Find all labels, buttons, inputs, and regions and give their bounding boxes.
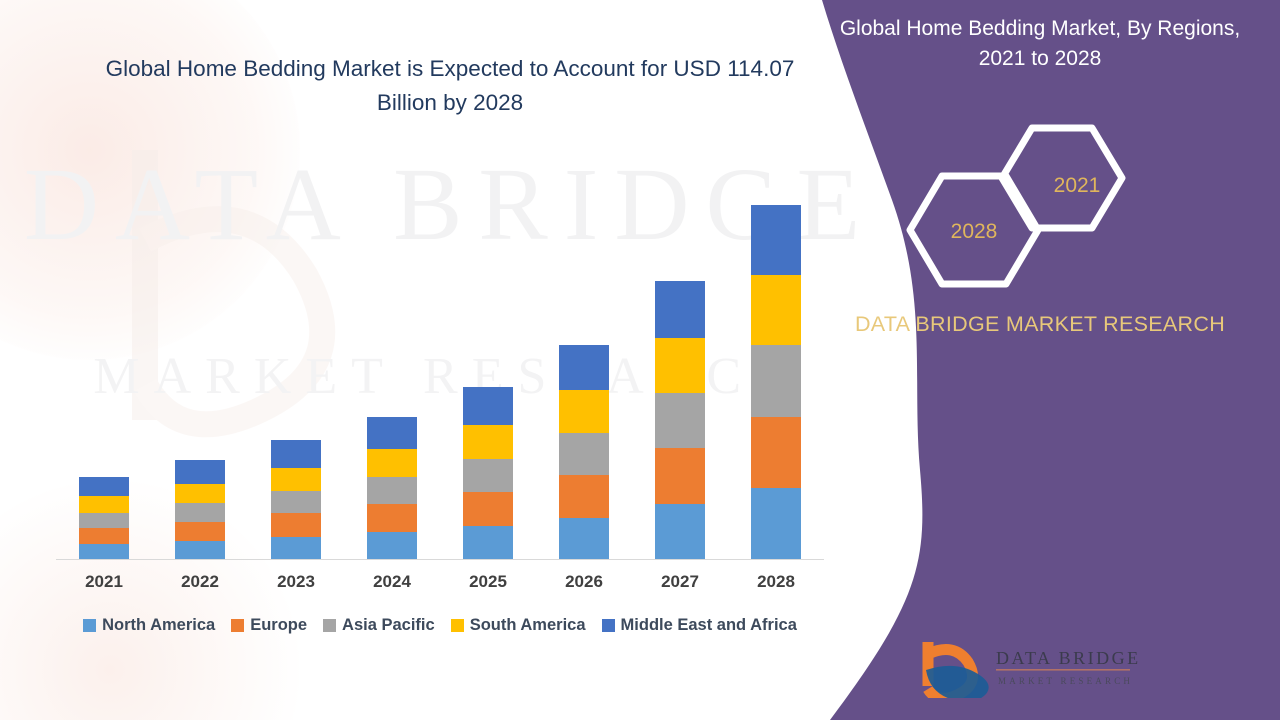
bar-segment[interactable]	[655, 338, 705, 393]
chart-pane: DATA BRIDGE MARKET RESEARCH Global Home …	[0, 0, 900, 720]
stacked-bar[interactable]	[559, 345, 609, 559]
bar-column-2022[interactable]	[152, 460, 248, 559]
bar-segment[interactable]	[463, 492, 513, 526]
bar-segment[interactable]	[751, 205, 801, 274]
bar-segment[interactable]	[751, 417, 801, 488]
x-axis-line	[56, 559, 824, 560]
bar-segment[interactable]	[175, 484, 225, 503]
legend-swatch-icon	[231, 619, 244, 632]
stacked-bar[interactable]	[271, 440, 321, 559]
hexagon-2021-label: 2021	[1054, 174, 1101, 197]
bar-segment[interactable]	[463, 387, 513, 425]
bar-segment[interactable]	[367, 504, 417, 532]
bar-segment[interactable]	[751, 345, 801, 417]
brand-pane: Global Home Bedding Market, By Regions, …	[800, 0, 1280, 720]
legend-label: South America	[470, 616, 586, 635]
x-axis-label-2021: 2021	[56, 572, 152, 592]
bar-column-2021[interactable]	[56, 477, 152, 559]
legend-label: Asia Pacific	[342, 616, 435, 635]
bar-segment[interactable]	[655, 448, 705, 504]
hexagon-badges: 2021 2028	[890, 120, 1150, 300]
x-axis-label-2027: 2027	[632, 572, 728, 592]
x-axis-label-2023: 2023	[248, 572, 344, 592]
legend-swatch-icon	[83, 619, 96, 632]
x-axis-label-2025: 2025	[440, 572, 536, 592]
bar-segment[interactable]	[271, 440, 321, 468]
chart-plot-area	[56, 170, 824, 560]
x-axis-labels: 20212022202320242025202620272028	[56, 572, 824, 592]
bar-segment[interactable]	[559, 390, 609, 432]
bar-segment[interactable]	[559, 433, 609, 475]
legend-swatch-icon	[602, 619, 615, 632]
legend-swatch-icon	[451, 619, 464, 632]
stacked-bar[interactable]	[175, 460, 225, 559]
bar-segment[interactable]	[175, 460, 225, 484]
bar-segment[interactable]	[367, 532, 417, 559]
bar-column-2024[interactable]	[344, 417, 440, 559]
legend-item[interactable]: North America	[83, 616, 215, 635]
stacked-bar[interactable]	[367, 417, 417, 559]
bar-segment[interactable]	[79, 513, 129, 528]
legend-label: Middle East and Africa	[621, 616, 797, 635]
bar-segment[interactable]	[367, 477, 417, 504]
brand-content: Global Home Bedding Market, By Regions, …	[800, 0, 1280, 720]
bar-segment[interactable]	[367, 449, 417, 477]
bar-column-2026[interactable]	[536, 345, 632, 559]
legend-item[interactable]: Europe	[231, 616, 307, 635]
legend-label: North America	[102, 616, 215, 635]
chart-legend: North AmericaEuropeAsia PacificSouth Ame…	[56, 616, 824, 635]
bar-segment[interactable]	[559, 475, 609, 518]
bar-segment[interactable]	[271, 468, 321, 491]
bar-segment[interactable]	[367, 417, 417, 449]
hexagon-2028-label: 2028	[951, 220, 998, 243]
bar-segment[interactable]	[175, 541, 225, 559]
bar-segment[interactable]	[559, 518, 609, 559]
bar-segment[interactable]	[79, 496, 129, 512]
bar-segment[interactable]	[463, 459, 513, 492]
data-bridge-logo: DATA BRIDGE MARKET RESEARCH	[908, 636, 1138, 698]
bar-column-2025[interactable]	[440, 387, 536, 559]
bar-segment[interactable]	[175, 522, 225, 541]
legend-swatch-icon	[323, 619, 336, 632]
bar-segment[interactable]	[79, 528, 129, 544]
stacked-bar[interactable]	[751, 205, 801, 559]
bar-segment[interactable]	[271, 513, 321, 536]
chart-title: Global Home Bedding Market is Expected t…	[80, 52, 820, 120]
legend-label: Europe	[250, 616, 307, 635]
brand-name: DATA BRIDGE MARKET RESEARCH	[840, 308, 1240, 340]
bar-segment[interactable]	[751, 275, 801, 345]
bar-segment[interactable]	[655, 504, 705, 559]
bar-segment[interactable]	[175, 503, 225, 521]
bar-segment[interactable]	[559, 345, 609, 391]
logo-wordmark: DATA BRIDGE	[996, 648, 1138, 668]
bar-segment[interactable]	[271, 491, 321, 513]
stacked-bar[interactable]	[463, 387, 513, 559]
bar-segment[interactable]	[751, 488, 801, 559]
bar-column-2027[interactable]	[632, 281, 728, 559]
stacked-bar[interactable]	[655, 281, 705, 559]
x-axis-label-2022: 2022	[152, 572, 248, 592]
x-axis-label-2026: 2026	[536, 572, 632, 592]
bar-segment[interactable]	[655, 281, 705, 338]
bar-segment[interactable]	[271, 537, 321, 559]
logo-subtitle: MARKET RESEARCH	[998, 676, 1133, 686]
x-axis-label-2024: 2024	[344, 572, 440, 592]
legend-item[interactable]: Middle East and Africa	[602, 616, 797, 635]
bar-column-2023[interactable]	[248, 440, 344, 559]
legend-item[interactable]: South America	[451, 616, 586, 635]
bar-segment[interactable]	[655, 393, 705, 448]
bar-segment[interactable]	[463, 425, 513, 459]
bar-segment[interactable]	[79, 477, 129, 497]
bar-segment[interactable]	[463, 526, 513, 559]
brand-panel-title: Global Home Bedding Market, By Regions, …	[820, 14, 1260, 75]
legend-item[interactable]: Asia Pacific	[323, 616, 435, 635]
stacked-bar[interactable]	[79, 477, 129, 559]
bar-segment[interactable]	[79, 544, 129, 559]
